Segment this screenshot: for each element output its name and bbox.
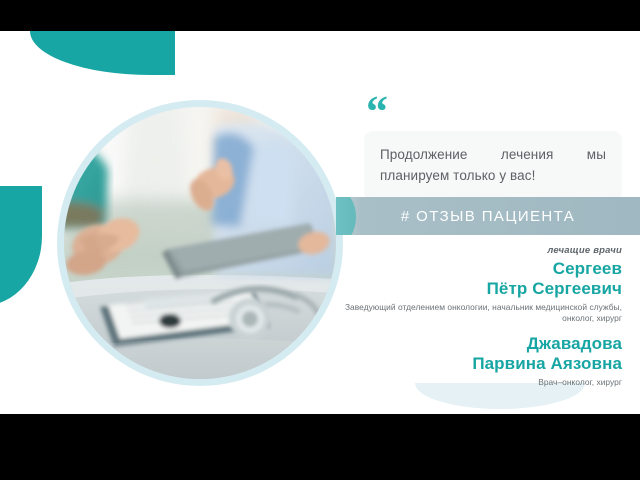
section-title-text: # ОТЗЫВ ПАЦИЕНТА bbox=[401, 208, 575, 225]
video-frame: “ Продолжение лечения мы планируем тольк… bbox=[0, 0, 640, 480]
patient-consultation-photo bbox=[64, 107, 336, 379]
decor-shape-top-teal bbox=[30, 31, 175, 75]
doctor-entry: Джавадова Парвина Аязовна Врач–онколог, … bbox=[322, 334, 622, 388]
doctor-given-name: Пётр Сергеевич bbox=[322, 279, 622, 299]
doctor-surname: Сергеев bbox=[322, 259, 622, 279]
letterbox-top bbox=[0, 0, 640, 31]
quote-card: Продолжение лечения мы планируем только … bbox=[364, 131, 622, 201]
doctor-entry: Сергеев Пётр Сергеевич Заведующий отделе… bbox=[322, 259, 622, 325]
doctor-surname: Джавадова bbox=[322, 334, 622, 354]
doctor-role: Врач–онколог, хирург bbox=[322, 377, 622, 389]
decor-shape-left-teal bbox=[0, 186, 42, 306]
photo-illustration bbox=[64, 107, 336, 379]
doctor-given-name: Парвина Аязовна bbox=[322, 354, 622, 374]
section-title-bar: # ОТЗЫВ ПАЦИЕНТА bbox=[336, 197, 640, 235]
doctor-role: Заведующий отделением онкологии, начальн… bbox=[322, 302, 622, 325]
attending-doctors-section: лечащие врачи Сергеев Пётр Сергеевич Зав… bbox=[322, 245, 622, 397]
slide-canvas: “ Продолжение лечения мы планируем тольк… bbox=[0, 31, 640, 414]
quote-text: Продолжение лечения мы планируем только … bbox=[380, 145, 606, 186]
letterbox-bottom bbox=[0, 414, 640, 480]
quote-open-icon: “ bbox=[366, 97, 622, 127]
attending-doctors-label: лечащие врачи bbox=[322, 245, 622, 256]
